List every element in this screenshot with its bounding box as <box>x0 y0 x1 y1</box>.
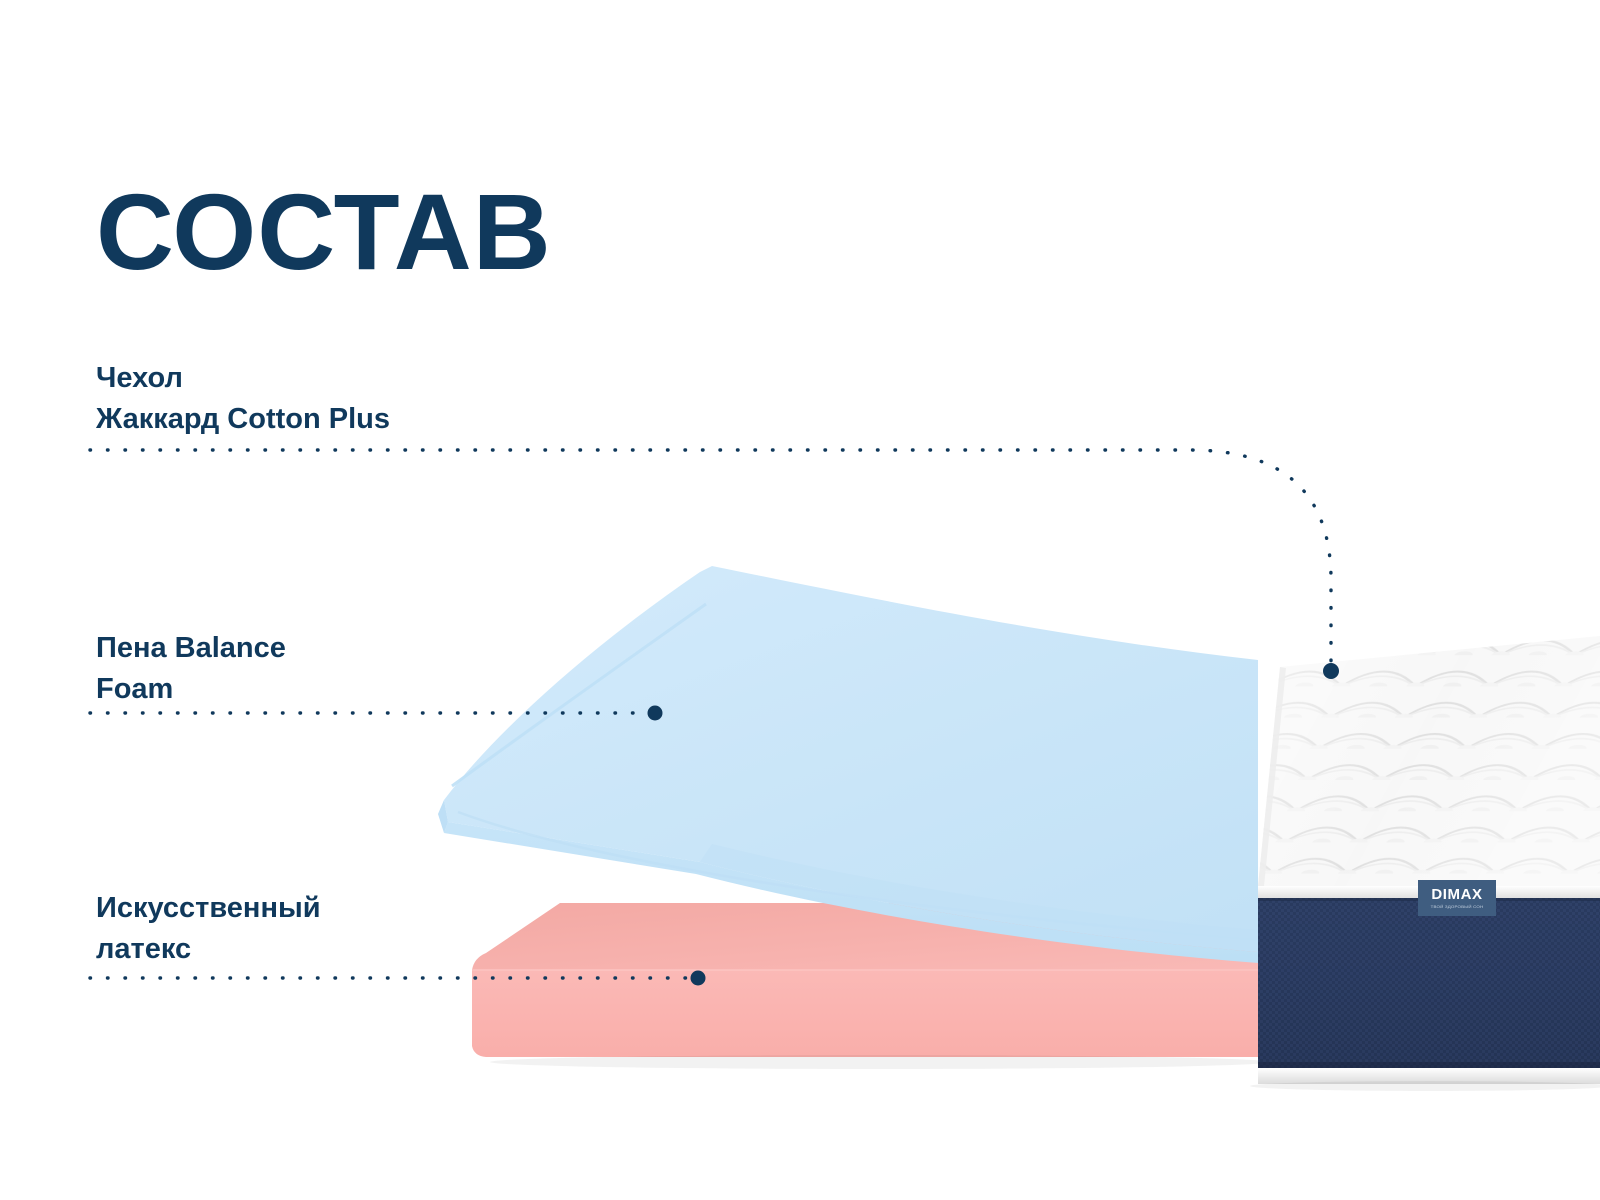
layer-side-panel <box>1250 898 1600 1091</box>
callout-latex-line1: Искусственный <box>96 892 321 924</box>
dimax-brand-subtitle: ТВОЙ ЗДОРОВЫЙ СОН <box>1431 905 1484 909</box>
callout-cover-text: Чехол Жаккард Cotton Plus <box>96 358 390 440</box>
callout-foam-line1: Пена Balance <box>96 632 286 664</box>
page-title: СОСТАВ <box>96 178 552 286</box>
callout-latex: Искусственный латекс <box>96 888 321 970</box>
dimax-brand-tag: DIMAX ТВОЙ ЗДОРОВЫЙ СОН <box>1418 880 1496 916</box>
callout-latex-text: Искусственный латекс <box>96 888 321 970</box>
slide-canvas: DIMAX ТВОЙ ЗДОРОВЫЙ СОН СОСТАВ Чехол Жак… <box>0 0 1600 1200</box>
callout-latex-line2: латекс <box>96 929 321 970</box>
layer-cover <box>1258 636 1600 900</box>
dimax-brand-text: DIMAX <box>1431 887 1482 902</box>
callout-foam-line2: Foam <box>96 669 286 710</box>
callout-cover-line2: Жаккард Cotton Plus <box>96 399 390 440</box>
callout-foam-text: Пена Balance Foam <box>96 628 286 710</box>
callout-cover-line1: Чехол <box>96 362 183 394</box>
callout-foam: Пена Balance Foam <box>96 628 286 710</box>
callout-cover: Чехол Жаккард Cotton Plus <box>96 358 390 440</box>
